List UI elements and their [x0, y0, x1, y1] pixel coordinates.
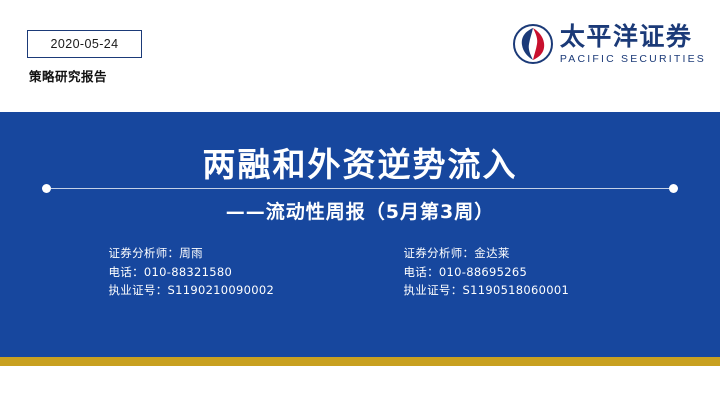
- analyst-phone-1: 电话：010-88321580: [109, 263, 339, 282]
- page-subtitle: ——流动性周报（5月第3周）: [0, 197, 720, 224]
- title-band-content: 两融和外资逆势流入 ——流动性周报（5月第3周） 证券分析师：周雨 电话：010…: [0, 112, 720, 357]
- analyst-name-1: 证券分析师：周雨: [109, 244, 339, 263]
- divider-line: [51, 188, 669, 189]
- divider-dot-right: [669, 184, 678, 193]
- divider-dot-left: [42, 184, 51, 193]
- cover-page: 2020-05-24 策略研究报告 太平洋证券 PACIFIC SECURITI…: [0, 0, 720, 405]
- logo-text-block: 太平洋证券 PACIFIC SECURITIES: [560, 23, 706, 65]
- company-name-en: PACIFIC SECURITIES: [560, 53, 706, 65]
- title-band: 两融和外资逆势流入 ——流动性周报（5月第3周） 证券分析师：周雨 电话：010…: [0, 112, 720, 357]
- analyst-info: 证券分析师：周雨 电话：010-88321580 执业证号：S119021009…: [0, 244, 720, 300]
- analyst-license-2: 执业证号：S1190518060001: [404, 281, 634, 300]
- analyst-block-1: 证券分析师：周雨 电话：010-88321580 执业证号：S119021009…: [87, 244, 339, 300]
- analyst-license-1: 执业证号：S1190210090002: [109, 281, 339, 300]
- pacific-securities-logo-icon: [513, 24, 553, 64]
- analyst-phone-2: 电话：010-88695265: [404, 263, 634, 282]
- analyst-block-2: 证券分析师：金达莱 电话：010-88695265 执业证号：S11905180…: [394, 244, 634, 300]
- company-logo: 太平洋证券 PACIFIC SECURITIES: [513, 22, 706, 65]
- report-date: 2020-05-24: [51, 37, 119, 51]
- page-title: 两融和外资逆势流入: [0, 138, 720, 186]
- analyst-name-2: 证券分析师：金达莱: [404, 244, 634, 263]
- report-type-label: 策略研究报告: [29, 66, 107, 85]
- page-header: 2020-05-24 策略研究报告 太平洋证券 PACIFIC SECURITI…: [0, 0, 720, 112]
- company-name-cn: 太平洋证券: [560, 23, 693, 50]
- footer-space: [0, 366, 720, 405]
- accent-bar: [0, 357, 720, 366]
- report-date-box: 2020-05-24: [27, 30, 142, 58]
- title-divider: [42, 184, 678, 193]
